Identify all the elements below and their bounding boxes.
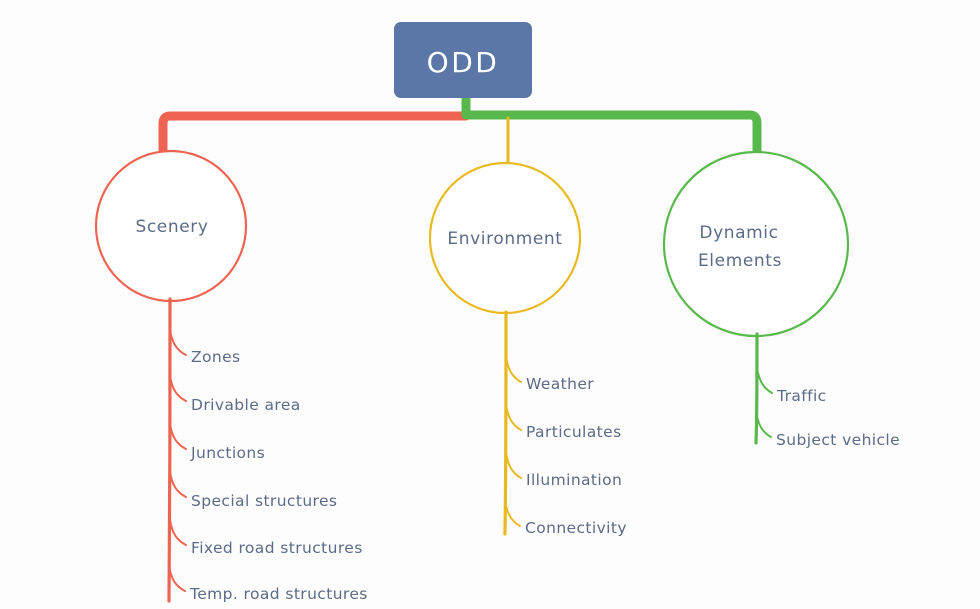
leafline-scenery-5	[169, 566, 185, 591]
leafline-scenery-1	[170, 376, 186, 401]
leaf-label-dynamic-subject-vehicle[interactable]: Subject vehicle	[776, 431, 900, 449]
node-label-scenery: Scenery	[135, 217, 208, 237]
leafline-environment-3	[505, 501, 520, 526]
leaf-label-environment-connectivity[interactable]: Connectivity	[525, 519, 627, 537]
leaf-label-scenery-zones[interactable]: Zones	[191, 348, 241, 366]
leafline-dynamic-1	[756, 412, 771, 437]
leafline-scenery-3	[170, 472, 186, 497]
leaf-label-scenery-special-structures[interactable]: Special structures	[191, 492, 337, 510]
root-node-label: ODD	[427, 46, 500, 79]
leaf-label-environment-illumination[interactable]: Illumination	[526, 471, 622, 489]
connector-root-to-dynamic	[466, 98, 757, 165]
leaf-label-environment-particulates[interactable]: Particulates	[526, 423, 622, 441]
leafline-environment-1	[506, 405, 521, 430]
node-label-dynamic-elements-line2: Elements	[698, 251, 782, 271]
leaf-label-scenery-fixed-road-structures[interactable]: Fixed road structures	[191, 539, 363, 557]
leafline-dynamic-0	[757, 368, 772, 393]
leafline-scenery-4	[170, 520, 186, 545]
leafline-scenery-0	[170, 330, 186, 355]
leafline-environment-0	[506, 357, 521, 382]
leafline-scenery-2	[170, 424, 186, 449]
leaf-label-environment-weather[interactable]: Weather	[526, 375, 594, 393]
leaf-label-scenery-temp-road-structures[interactable]: Temp. road structures	[189, 585, 368, 603]
subtrunk-scenery	[169, 299, 170, 601]
leafline-environment-2	[506, 453, 521, 478]
leaf-label-scenery-drivable-area[interactable]: Drivable area	[191, 396, 301, 414]
node-circle-dynamic-elements[interactable]	[664, 152, 848, 336]
leaf-label-dynamic-traffic[interactable]: Traffic	[776, 387, 827, 405]
node-label-dynamic-elements-line1: Dynamic	[699, 223, 778, 243]
node-label-environment: Environment	[447, 229, 562, 249]
connector-root-to-scenery	[163, 116, 466, 150]
mindmap-svg: ODD Scenery Environment Dynamic Elements…	[0, 0, 980, 609]
mindmap-canvas: ODD Scenery Environment Dynamic Elements…	[0, 0, 980, 609]
leaf-label-scenery-junctions[interactable]: Junctions	[190, 444, 265, 462]
subtrunk-dynamic-elements	[756, 334, 757, 443]
